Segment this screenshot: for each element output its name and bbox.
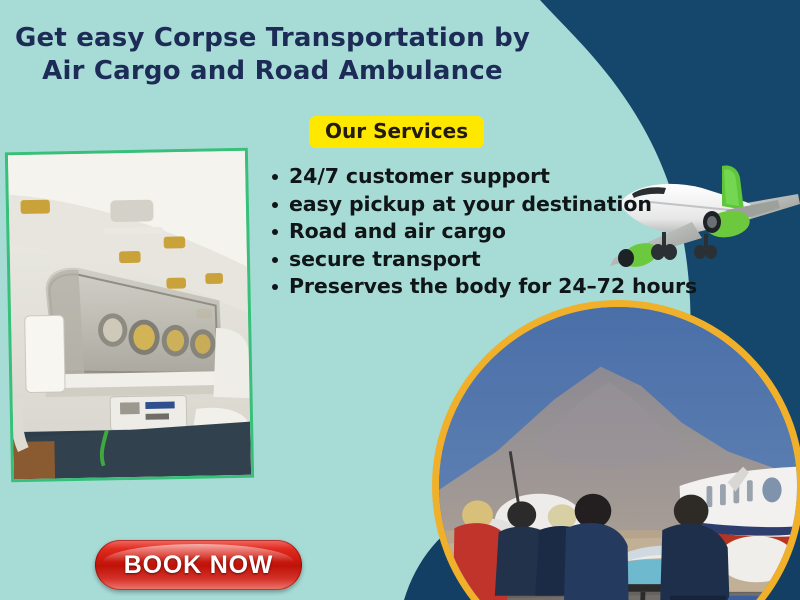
services-badge: Our Services bbox=[309, 116, 484, 148]
list-item: Preserves the body for 24–72 hours bbox=[268, 273, 688, 301]
book-now-label: BOOK NOW bbox=[124, 551, 273, 579]
list-item: 24/7 customer support bbox=[268, 163, 688, 191]
book-now-button[interactable]: BOOK NOW bbox=[95, 540, 302, 590]
list-item: secure transport bbox=[268, 246, 688, 274]
air-ambulance-loading-photo bbox=[432, 300, 800, 600]
cabin-interior-illustration bbox=[8, 151, 251, 479]
cabin-interior-photo bbox=[5, 148, 254, 483]
services-list: 24/7 customer support easy pickup at you… bbox=[268, 163, 688, 301]
list-item: easy pickup at your destination bbox=[268, 191, 688, 219]
page-title: Get easy Corpse Transportation by Air Ca… bbox=[0, 22, 545, 89]
promo-banner: Get easy Corpse Transportation by Air Ca… bbox=[0, 0, 800, 600]
air-ambulance-illustration bbox=[439, 307, 797, 600]
list-item: Road and air cargo bbox=[268, 218, 688, 246]
